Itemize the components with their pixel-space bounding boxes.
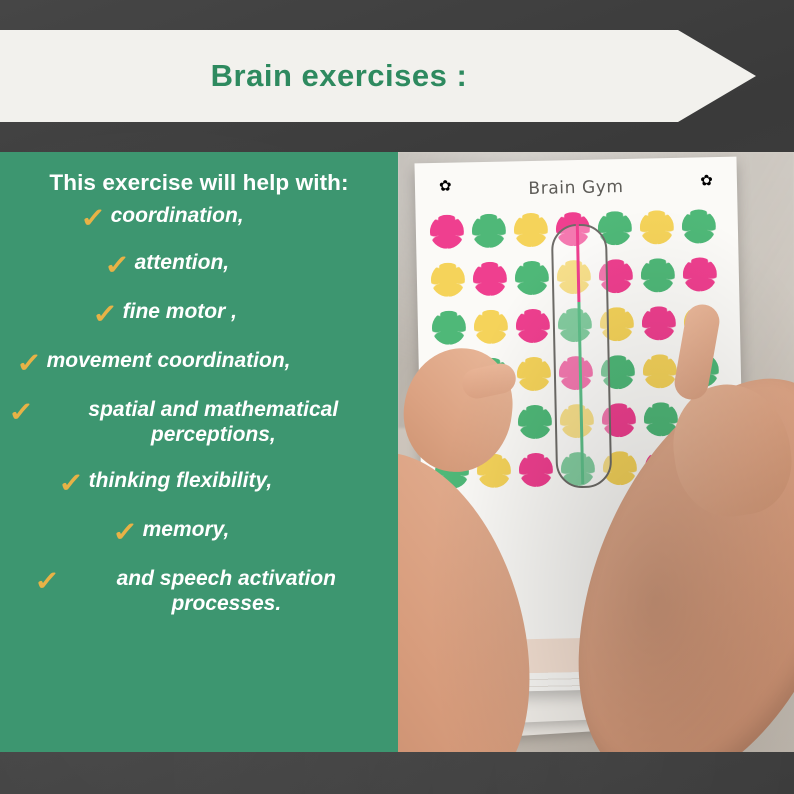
product-photo: Brain Gym ✿ ✿ ◡ <box>398 152 794 752</box>
flower-sticker <box>430 214 465 249</box>
benefit-label: thinking flexibility, <box>89 469 273 494</box>
banner: Brain exercises : <box>0 30 756 122</box>
flower-petals-icon <box>643 354 678 389</box>
flower-petals-icon <box>518 405 553 440</box>
benefit-label: and speech activation processes. <box>65 567 388 616</box>
flower-petals-icon <box>514 213 549 248</box>
flower-sticker <box>683 257 718 292</box>
flower-sticker <box>432 310 467 345</box>
flower-sticker <box>641 258 676 293</box>
flower-sticker <box>472 214 507 249</box>
check-icon: ✓ <box>92 301 118 328</box>
check-icon: ✓ <box>80 205 106 232</box>
flower-petals-icon <box>682 209 717 244</box>
list-item: ✓ attention, <box>10 251 388 278</box>
flower-sticker <box>640 210 675 245</box>
list-item: ✓ memory, <box>10 518 388 545</box>
flower-sticker <box>514 213 549 248</box>
flower-sticker <box>519 453 554 488</box>
flower-petals-icon <box>473 262 508 297</box>
flower-petals-icon <box>517 357 552 392</box>
flower-sticker <box>431 262 466 297</box>
list-item: ✓ fine motor , <box>10 300 388 327</box>
content-area: This exercise will help with: ✓ coordina… <box>0 152 794 752</box>
flower-sticker <box>682 209 717 244</box>
flower-corner-right-icon: ✿ <box>700 171 713 189</box>
flower-sticker <box>474 310 509 345</box>
check-icon: ✓ <box>112 519 138 546</box>
list-item: ✓ movement coordination, <box>10 349 388 376</box>
flower-sticker <box>517 357 552 392</box>
banner-title: Brain exercises : <box>211 58 468 94</box>
flower-sticker <box>473 262 508 297</box>
list-item: ✓ spatial and mathematical perceptions, <box>10 398 388 447</box>
flower-petals-icon <box>472 214 507 249</box>
flower-sticker <box>515 261 550 296</box>
worksheet-title: Brain Gym <box>415 175 737 202</box>
flower-sticker <box>642 306 677 341</box>
check-icon: ✓ <box>8 399 34 426</box>
check-icon: ✓ <box>16 350 42 377</box>
benefits-panel: This exercise will help with: ✓ coordina… <box>0 152 398 752</box>
benefit-label: spatial and mathematical perceptions, <box>39 398 388 447</box>
list-item: ✓ thinking flexibility, <box>10 469 388 496</box>
benefit-label: coordination, <box>111 204 244 229</box>
flower-petals-icon <box>430 214 465 249</box>
flower-sticker <box>518 405 553 440</box>
flower-petals-icon <box>515 261 550 296</box>
flower-sticker <box>643 354 678 389</box>
flower-petals-icon <box>474 310 509 345</box>
check-icon: ✓ <box>58 470 84 497</box>
check-icon: ✓ <box>104 252 130 279</box>
benefit-label: attention, <box>135 251 230 276</box>
poster: Brain exercises : This exercise will hel… <box>0 0 794 794</box>
flower-petals-icon <box>516 309 551 344</box>
flower-petals-icon <box>432 310 467 345</box>
benefit-label: movement coordination, <box>47 349 291 374</box>
check-icon: ✓ <box>34 568 60 595</box>
flower-sticker <box>516 309 551 344</box>
list-item: ✓ coordination, <box>10 204 388 231</box>
flower-corner-left-icon: ✿ <box>439 177 452 195</box>
list-item: ✓ and speech activation processes. <box>10 567 388 616</box>
benefit-list: ✓ coordination, ✓ attention, ✓ fine moto… <box>10 204 388 616</box>
flower-petals-icon <box>519 453 554 488</box>
panel-heading: This exercise will help with: <box>10 170 388 196</box>
flower-petals-icon <box>683 257 718 292</box>
flower-petals-icon <box>642 306 677 341</box>
benefit-label: memory, <box>143 518 230 543</box>
benefit-label: fine motor , <box>123 300 237 325</box>
flower-petals-icon <box>431 262 466 297</box>
flower-petals-icon <box>640 210 675 245</box>
flower-petals-icon <box>641 258 676 293</box>
